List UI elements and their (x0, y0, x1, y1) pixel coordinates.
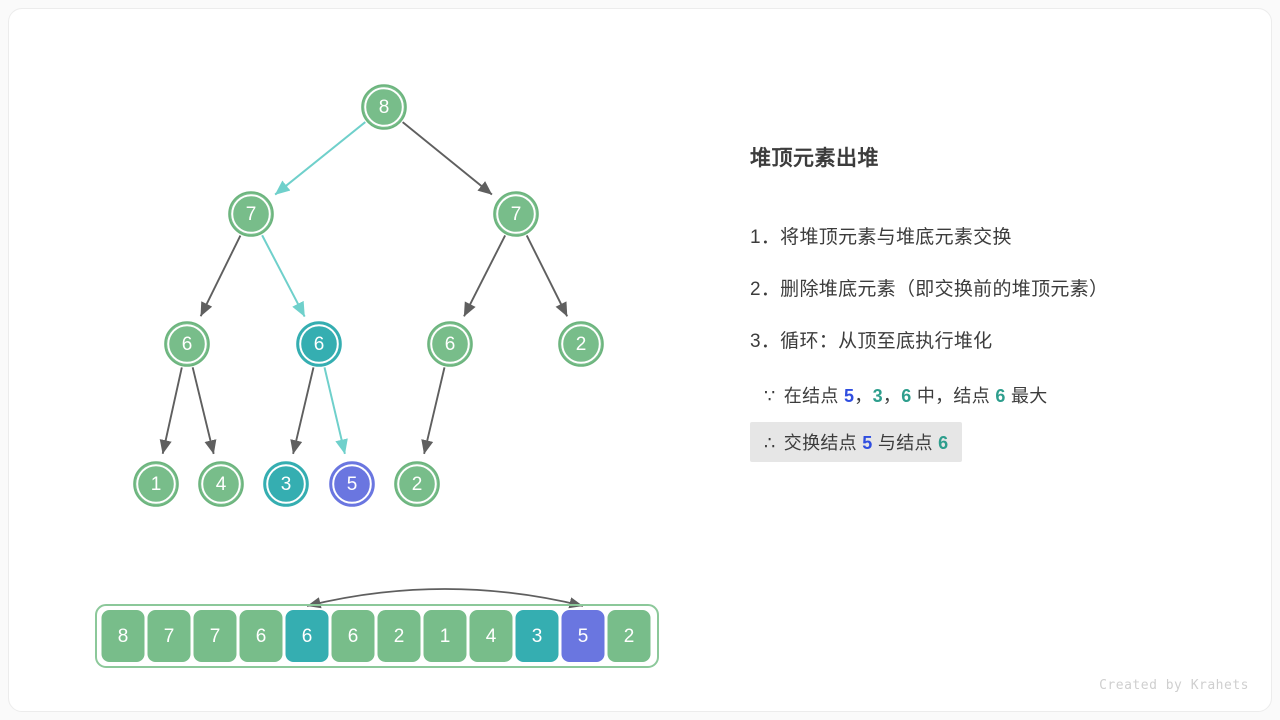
watermark-credit: Created by Krahets (1099, 678, 1249, 693)
reason-text: 交换结点 (784, 433, 863, 453)
array-cell[interactable]: 5 (562, 610, 605, 662)
array-cell[interactable]: 1 (424, 610, 467, 662)
reason-value: 6 (995, 386, 1005, 406)
diagram-area: 877666214352 877666214352 (9, 9, 709, 712)
array-cell-value: 3 (532, 626, 543, 647)
reason-value: 3 (873, 386, 883, 406)
array-cell[interactable]: 3 (516, 610, 559, 662)
array-cell-value: 4 (486, 626, 497, 647)
reason-text: 最大 (1006, 386, 1048, 406)
array-cell-value: 1 (440, 626, 451, 647)
array-cell[interactable]: 2 (378, 610, 421, 662)
array-cell-value: 7 (164, 626, 175, 647)
step-item-2: 2．删除堆底元素（即交换前的堆顶元素） (750, 274, 1108, 301)
array-cell-value: 6 (348, 626, 359, 647)
explanation-panel: 堆顶元素出堆 1．将堆顶元素与堆底元素交换 2．删除堆底元素（即交换前的堆顶元素… (742, 9, 1262, 712)
array-cell-value: 8 (118, 626, 129, 647)
reason-value: 5 (862, 433, 872, 453)
array-cell-value: 5 (578, 626, 589, 647)
reason-premise: ∵在结点 5，3，6 中，结点 6 最大 (750, 375, 1062, 415)
heap-array: 877666214352 (9, 9, 709, 712)
reason-text: 在结点 (784, 386, 844, 406)
array-cell[interactable]: 6 (240, 610, 283, 662)
reason-value: 5 (844, 386, 854, 406)
reason-text: 中，结点 (912, 386, 996, 406)
array-cell-value: 6 (256, 626, 267, 647)
array-cell[interactable]: 6 (332, 610, 375, 662)
swap-arrow (307, 589, 583, 606)
array-cell[interactable]: 4 (470, 610, 513, 662)
slide-card: 877666214352 877666214352 堆顶元素出堆 1．将堆顶元素… (8, 8, 1272, 712)
array-cell[interactable]: 7 (194, 610, 237, 662)
step-item-3: 3．循环：从顶至底执行堆化 (750, 326, 992, 353)
reason-value: 6 (901, 386, 911, 406)
page-title: 堆顶元素出堆 (750, 142, 879, 172)
reason-text: 与结点 (873, 433, 939, 453)
reason-symbol: ∵ (764, 386, 776, 406)
reason-text: ， (883, 386, 901, 406)
reason-symbol: ∴ (764, 433, 776, 453)
array-cell[interactable]: 6 (286, 610, 329, 662)
page-background: 877666214352 877666214352 堆顶元素出堆 1．将堆顶元素… (0, 0, 1280, 720)
step-item-1: 1．将堆顶元素与堆底元素交换 (750, 222, 1012, 249)
array-cell-value: 6 (302, 626, 313, 647)
array-cell-value: 2 (624, 626, 635, 647)
array-swap-arc (307, 589, 583, 606)
reason-value: 6 (938, 433, 948, 453)
array-cell[interactable]: 8 (102, 610, 145, 662)
reason-conclusion: ∴交换结点 5 与结点 6 (750, 422, 962, 462)
array-cell-group: 877666214352 (102, 610, 651, 662)
array-cell-value: 7 (210, 626, 221, 647)
array-cell[interactable]: 7 (148, 610, 191, 662)
array-cell[interactable]: 2 (608, 610, 651, 662)
reason-text: ， (854, 386, 872, 406)
array-cell-value: 2 (394, 626, 405, 647)
